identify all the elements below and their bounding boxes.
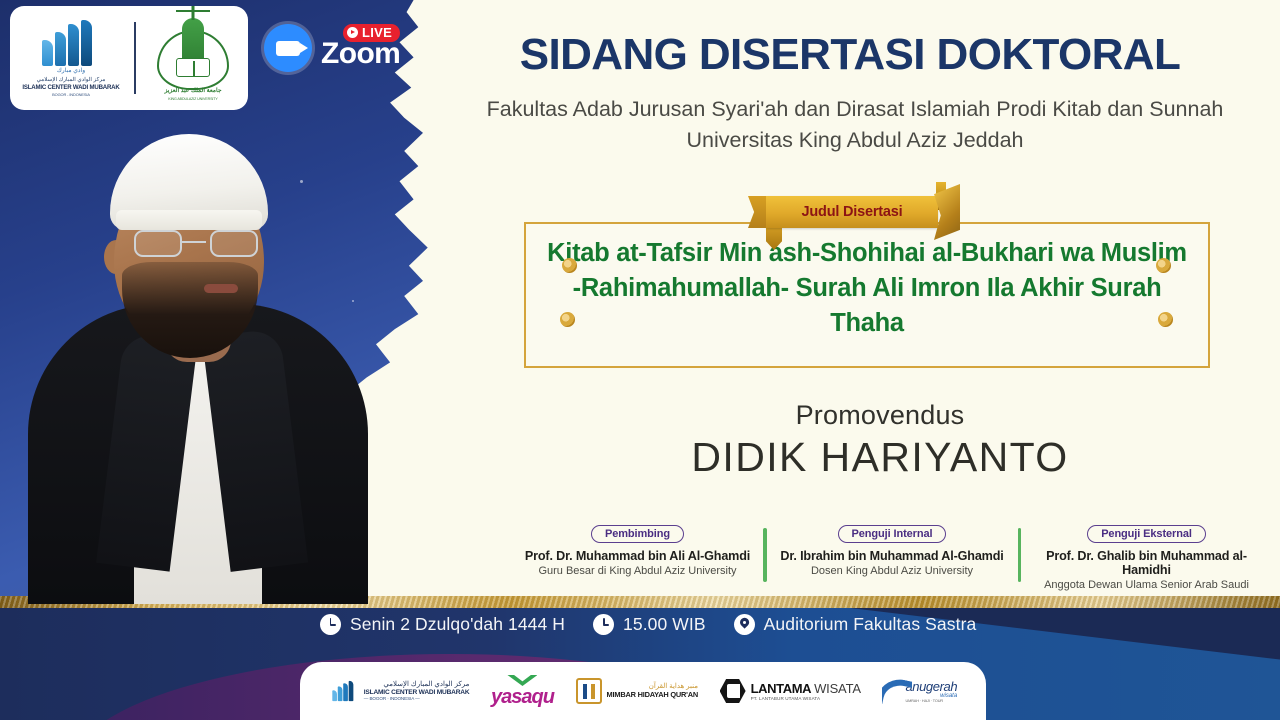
committee-badge: Penguji Internal (838, 525, 947, 543)
location-pin-icon (734, 614, 755, 635)
university-logo: جامعة الملك عبد العزيز KING ABDULAZIZ UN… (145, 14, 241, 102)
promovendus-label: Promovendus (600, 400, 1160, 431)
promovendus-portrait-photo (18, 112, 378, 604)
committee-member-internal-examiner: Penguji Internal Dr. Ibrahim bin Muhamma… (767, 524, 1018, 577)
committee-name: Prof. Dr. Ghalib bin Muhammad al-Hamidhi (1025, 549, 1268, 577)
floral-ornament-icon (560, 312, 575, 327)
zoom-wordmark: Zoom (321, 39, 400, 69)
islamic-center-logo: وادي مبارك مركز الوادي المبارك الإسلامي … (17, 20, 125, 97)
page-subtitle: Fakultas Adab Jurusan Syari'ah dan Diras… (470, 94, 1240, 155)
event-date: Senin 2 Dzulqo'dah 1444 H (320, 614, 565, 635)
islamic-center-icon (42, 20, 100, 66)
floral-ornament-icon (1158, 312, 1173, 327)
event-venue: Auditorium Fakultas Sastra (734, 614, 977, 635)
committee-badge: Penguji Eksternal (1087, 525, 1206, 543)
committee-role: Anggota Dewan Ulama Senior Arab Saudi (1025, 579, 1268, 591)
sponsor-name-light: WISATA (814, 681, 861, 696)
zoom-camera-icon (264, 24, 312, 72)
event-info-bar: Senin 2 Dzulqo'dah 1444 H 15.00 WIB Audi… (320, 614, 976, 635)
event-date-text: Senin 2 Dzulqo'dah 1444 H (350, 614, 565, 635)
sponsor-sub: UMRAH · HAJI · TOUR (905, 699, 957, 703)
sponsor-strip: مركز الوادي المبارك الإسلامي ISLAMIC CEN… (300, 662, 986, 720)
ribbon-label: Judul Disertasi (802, 204, 903, 220)
dissertation-title: Kitab at-Tafsir Min ash-Shohihai al-Bukh… (540, 236, 1194, 342)
zoom-live-badge: LIVE Zoom (264, 24, 400, 72)
islamic-center-arabic-name: مركز الوادي المبارك الإسلامي (37, 77, 106, 83)
committee-name: Prof. Dr. Muhammad bin Ali Al-Ghamdi (516, 549, 759, 563)
committee-role: Dosen King Abdul Aziz University (771, 565, 1014, 577)
sponsor-sub: — BOGOR · INDONESIA — (364, 696, 470, 701)
sponsor-arabic: مركز الوادي المبارك الإسلامي (364, 681, 470, 689)
sponsor-islamic-center: مركز الوادي المبارك الإسلامي ISLAMIC CEN… (329, 678, 470, 704)
sponsor-lantama-wisata: LANTAMA WISATA PT. LANTABUR UTAMA WISATA (720, 678, 861, 704)
event-time-text: 15.00 WIB (623, 614, 706, 635)
university-arabic-name: جامعة الملك عبد العزيز (151, 87, 235, 94)
king-abdulaziz-university-seal-icon: جامعة الملك عبد العزيز KING ABDULAZIZ UN… (151, 14, 235, 102)
promovendus-name: DIDIK HARIYANTO (600, 434, 1160, 481)
page-title: SIDANG DISERTASI DOKTORAL (430, 30, 1270, 80)
clock-icon (320, 614, 341, 635)
swoosh-icon (882, 678, 912, 704)
sponsor-yasaqu: yasaqu (491, 675, 554, 707)
committee-role: Guru Besar di King Abdul Aziz University (516, 565, 759, 577)
sponsor-anugerah-wisata: anugerah wisata UMRAH · HAJI · TOUR (882, 678, 957, 704)
sponsor-name: MIMBAR HIDAYAH QUR'AN (607, 691, 698, 700)
islamic-center-icon (332, 681, 355, 701)
sponsor-name: anugerah (905, 680, 957, 693)
committee-member-supervisor: Pembimbing Prof. Dr. Muhammad bin Ali Al… (512, 524, 763, 577)
event-venue-text: Auditorium Fakultas Sastra (764, 614, 977, 635)
committee-section: Pembimbing Prof. Dr. Muhammad bin Ali Al… (512, 524, 1272, 590)
islamic-center-arabic-small: وادي مبارك (57, 67, 85, 74)
sponsor-sub: PT. LANTABUR UTAMA WISATA (751, 696, 861, 701)
university-english-name: KING ABDULAZIZ UNIVERSITY (151, 97, 235, 101)
poster-canvas: وادي مبارك مركز الوادي المبارك الإسلامي … (0, 0, 1280, 720)
hexagon-icon (720, 678, 746, 704)
clock-icon (593, 614, 614, 635)
sponsor-mimbar-hidayah-quran: منبر هداية القرآن MIMBAR HIDAYAH QUR'AN (576, 678, 698, 704)
event-time: 15.00 WIB (593, 614, 706, 635)
committee-member-external-examiner: Penguji Eksternal Prof. Dr. Ghalib bin M… (1021, 524, 1272, 591)
islamic-center-subtitle: BOGOR - INDONESIA (52, 92, 90, 97)
committee-name: Dr. Ibrahim bin Muhammad Al-Ghamdi (771, 549, 1014, 563)
eyeglasses (130, 230, 260, 260)
dissertation-ribbon: Judul Disertasi (766, 196, 938, 228)
mimbar-mark-icon (576, 678, 602, 704)
sponsor-name: ISLAMIC CENTER WADI MUBARAK (364, 689, 470, 697)
floral-ornament-icon (562, 258, 577, 273)
sponsor-name-bold: LANTAMA (751, 682, 812, 695)
committee-badge: Pembimbing (591, 525, 684, 543)
play-icon (347, 27, 358, 38)
organizer-logo-card: وادي مبارك مركز الوادي المبارك الإسلامي … (10, 6, 248, 110)
floral-ornament-icon (1156, 258, 1171, 273)
check-swoosh-icon (507, 675, 537, 686)
logo-divider (134, 22, 136, 94)
kufi-cap (110, 134, 268, 230)
islamic-center-english-name: ISLAMIC CENTER WADI MUBARAK (22, 84, 119, 91)
sponsor-name: yasaqu (491, 687, 554, 707)
